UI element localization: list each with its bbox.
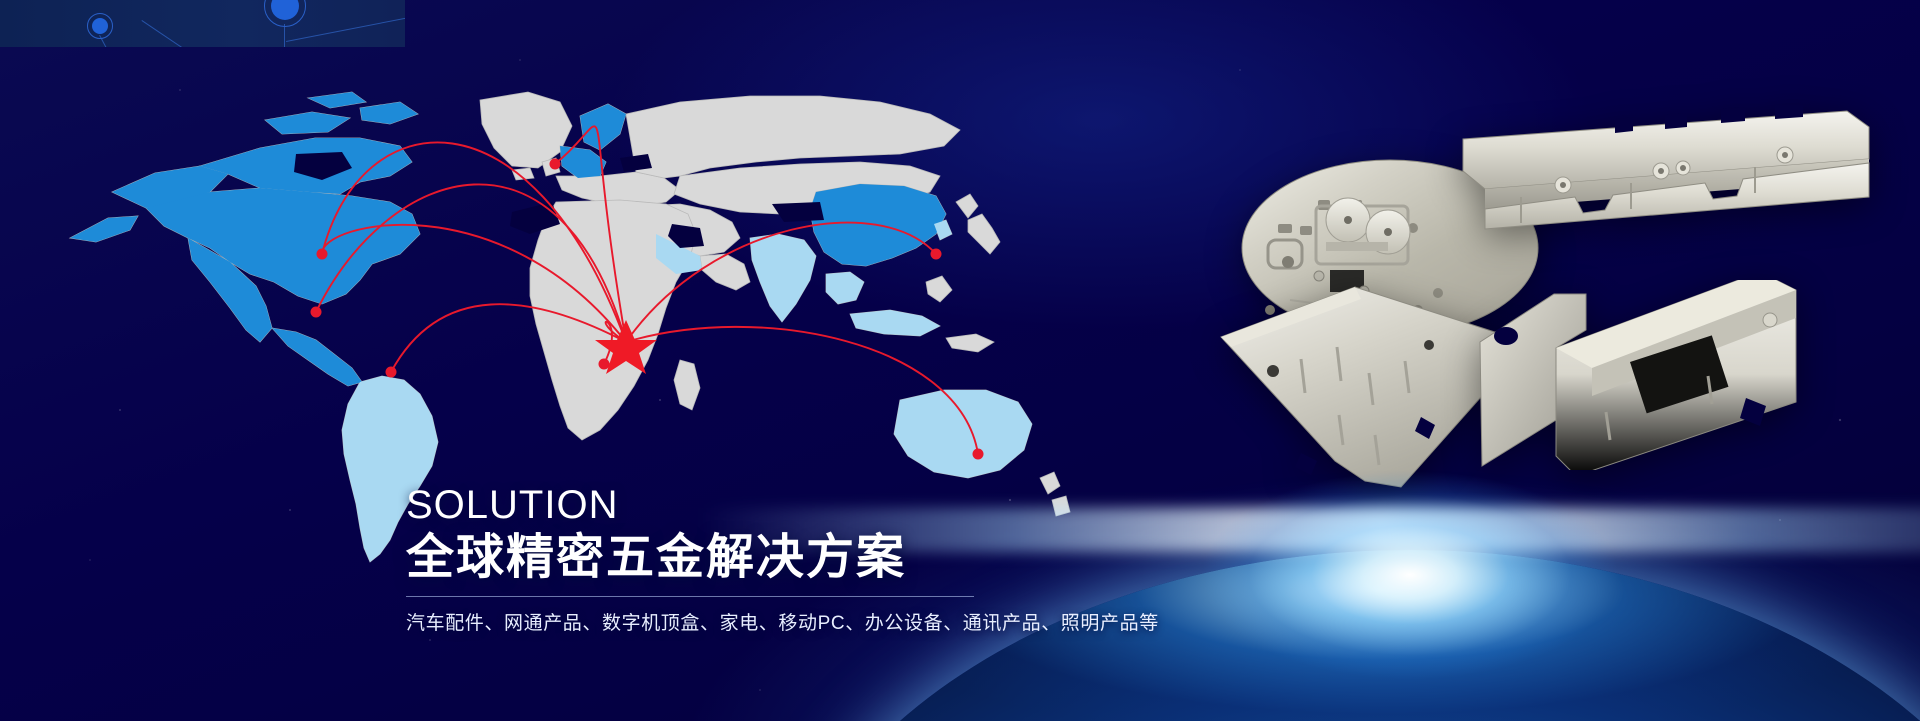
hero-banner: SOLUTION 全球精密五金解决方案 汽车配件、网通产品、数字机顶盒、家电、移… [0, 0, 1920, 721]
eyebrow-text: SOLUTION [406, 485, 1159, 525]
circuit-panel [0, 0, 405, 47]
circuit-node-dot [92, 18, 108, 34]
headline-text: 全球精密五金解决方案 [406, 531, 1159, 585]
circuit-line [286, 16, 405, 42]
route-endpoint [931, 249, 942, 260]
route-endpoint [599, 359, 610, 370]
sheet-metal-rail [1455, 105, 1875, 255]
route-endpoint [317, 249, 328, 260]
sheet-metal-bracket [1460, 280, 1800, 470]
subline-text: 汽车配件、网通产品、数字机顶盒、家电、移动PC、办公设备、通讯产品、照明产品等 [406, 608, 1159, 635]
route-endpoint [550, 159, 561, 170]
caption-divider [406, 596, 974, 597]
route-endpoint [311, 307, 322, 318]
route-endpoint [386, 367, 397, 378]
route-endpoint [973, 449, 984, 460]
caption-block: SOLUTION 全球精密五金解决方案 汽车配件、网通产品、数字机顶盒、家电、移… [406, 485, 1159, 635]
